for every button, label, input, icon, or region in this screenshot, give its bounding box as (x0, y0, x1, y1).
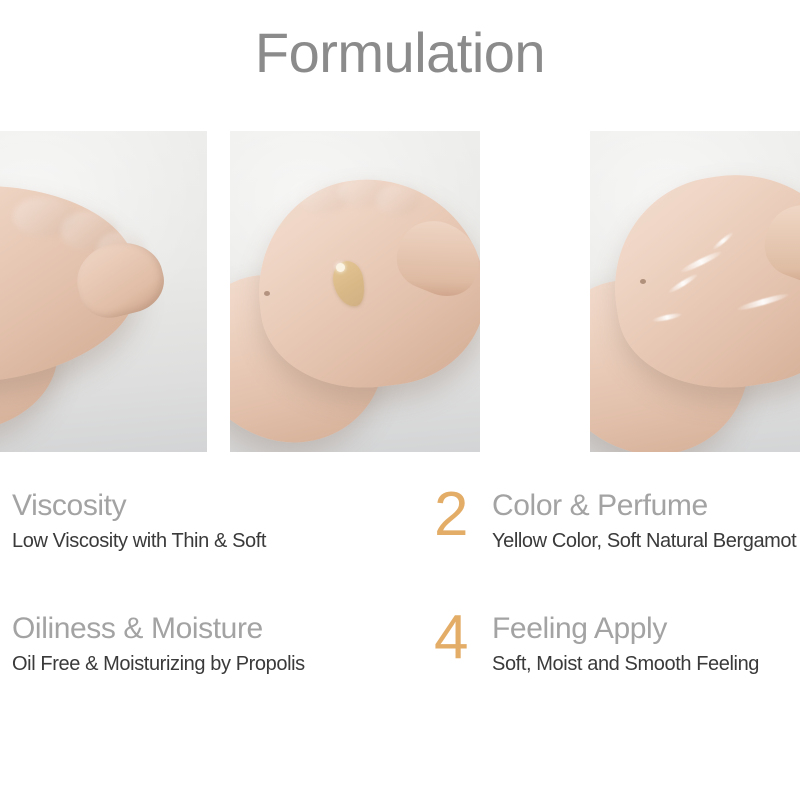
feature-title: Feeling Apply (492, 612, 759, 646)
feature-item-viscosity: 1 Viscosity Low Viscosity with Thin & So… (0, 486, 354, 553)
feature-number: 2 (434, 486, 492, 545)
feature-text: Color & Perfume Yellow Color, Soft Natur… (492, 486, 796, 553)
feature-item-color-perfume: 2 Color & Perfume Yellow Color, Soft Nat… (434, 486, 800, 553)
page-title: Formulation (0, 22, 800, 84)
photo-strip (0, 131, 800, 452)
feature-item-feeling-apply: 4 Feeling Apply Soft, Moist and Smooth F… (434, 609, 800, 676)
knuckle-highlight (376, 185, 420, 215)
skin-mole (264, 291, 270, 296)
hand-illustration (230, 131, 480, 452)
feature-subtitle: Oil Free & Moisturizing by Propolis (12, 652, 305, 676)
bare-hand-photo (0, 131, 207, 452)
feature-title: Oiliness & Moisture (12, 612, 305, 646)
feature-number: 3 (0, 609, 12, 668)
feature-subtitle: Yellow Color, Soft Natural Bergamot (492, 529, 796, 553)
feature-title: Viscosity (12, 489, 266, 523)
feature-text: Feeling Apply Soft, Moist and Smooth Fee… (492, 609, 759, 676)
feature-number: 4 (434, 609, 492, 668)
feature-text: Viscosity Low Viscosity with Thin & Soft (12, 486, 266, 553)
feature-subtitle: Low Viscosity with Thin & Soft (12, 529, 266, 553)
skin-mole (640, 279, 646, 284)
hand-illustration (590, 131, 800, 452)
absorbed-serum-on-hand-photo (590, 131, 800, 452)
feature-subtitle: Soft, Moist and Smooth Feeling (492, 652, 759, 676)
feature-item-oiliness-moisture: 3 Oiliness & Moisture Oil Free & Moistur… (0, 609, 354, 676)
feature-text: Oiliness & Moisture Oil Free & Moisturiz… (12, 609, 305, 676)
formulation-infographic: Formulation (0, 0, 800, 800)
feature-number: 1 (0, 486, 12, 545)
serum-drop-on-hand-photo (230, 131, 480, 452)
hand-illustration (0, 131, 207, 452)
serum-drop-highlight (336, 263, 345, 272)
feature-title: Color & Perfume (492, 489, 796, 523)
